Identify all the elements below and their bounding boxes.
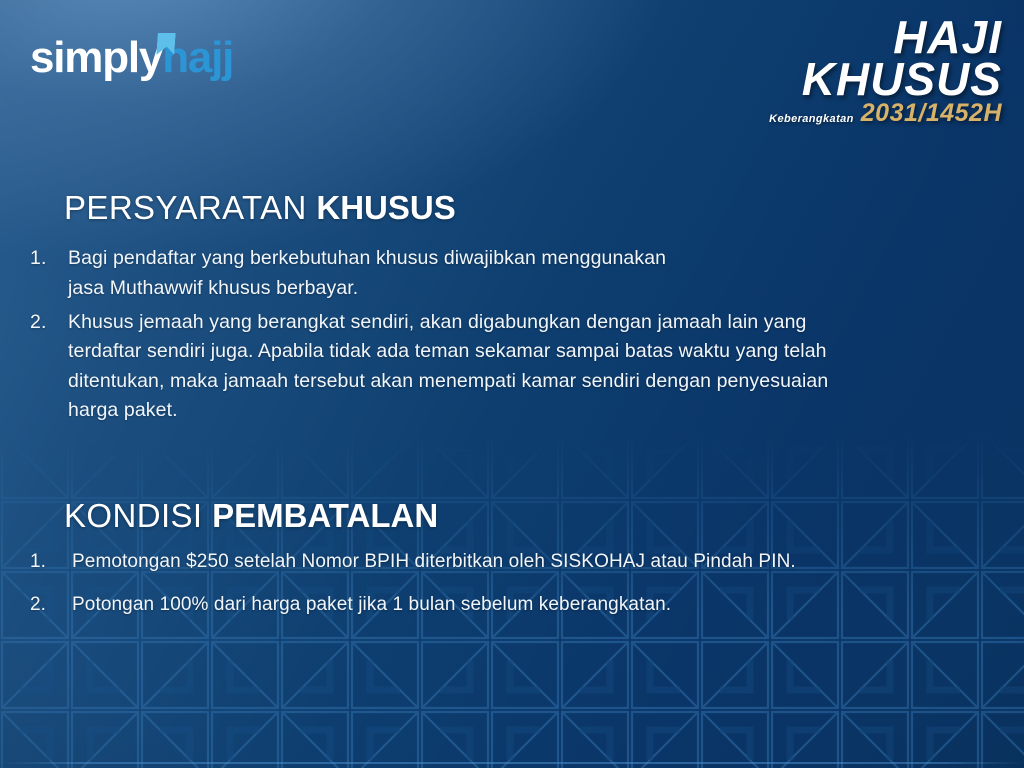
- cancellation-list: 1. Pemotongan $250 setelah Nomor BPIH di…: [26, 548, 984, 620]
- section-requirements-title-light: PERSYARATAN: [64, 189, 307, 226]
- list-item: 2. Khusus jemaah yang berangkat sendiri,…: [26, 308, 984, 427]
- section-cancellation-title-light: KONDISI: [64, 497, 203, 534]
- list-item-line: jasa Muthawwif khusus berbayar.: [68, 274, 984, 304]
- brand-logo[interactable]: simplyhajj: [30, 28, 233, 88]
- list-item-number: 2.: [26, 308, 68, 338]
- list-item-text: Khusus jemaah yang berangkat sendiri, ak…: [68, 308, 984, 427]
- list-item-text: Potongan 100% dari harga paket jika 1 bu…: [72, 591, 984, 620]
- list-item-line: Pemotongan $250 setelah Nomor BPIH diter…: [72, 548, 984, 577]
- section-cancellation-title-bold: PEMBATALAN: [212, 497, 438, 534]
- section-cancellation: KONDISI PEMBATALAN 1. Pemotongan $250 se…: [64, 498, 984, 634]
- slide-canvas: simplyhajj HAJI KHUSUS Keberangkatan 203…: [0, 0, 1024, 768]
- list-item-line: Potongan 100% dari harga paket jika 1 bu…: [72, 591, 984, 620]
- list-item-text: Bagi pendaftar yang berkebutuhan khusus …: [68, 244, 984, 303]
- badge-subtitle: Keberangkatan 2031/1452H: [762, 99, 1002, 128]
- list-item-line: harga paket.: [68, 396, 984, 426]
- list-item: 2. Potongan 100% dari harga paket jika 1…: [26, 591, 984, 620]
- badge-title-line1: HAJI: [762, 16, 1002, 58]
- list-item-number: 1.: [26, 244, 68, 274]
- list-item-text: Pemotongan $250 setelah Nomor BPIH diter…: [72, 548, 984, 577]
- header-badge: HAJI KHUSUS Keberangkatan 2031/1452H: [762, 16, 1002, 128]
- bottom-accent-line: [0, 762, 1024, 764]
- badge-title-line2: KHUSUS: [762, 58, 1002, 100]
- list-item-number: 2.: [26, 591, 72, 620]
- list-item-line: Khusus jemaah yang berangkat sendiri, ak…: [68, 308, 984, 338]
- section-requirements: PERSYARATAN KHUSUS 1. Bagi pendaftar yan…: [64, 190, 984, 430]
- list-item-line: terdaftar sendiri juga. Apabila tidak ad…: [68, 337, 984, 367]
- brand-logo-primary: simply: [30, 33, 162, 82]
- list-item: 1. Bagi pendaftar yang berkebutuhan khus…: [26, 244, 984, 303]
- list-item-number: 1.: [26, 548, 72, 577]
- section-requirements-title: PERSYARATAN KHUSUS: [64, 190, 984, 226]
- list-item: 1. Pemotongan $250 setelah Nomor BPIH di…: [26, 548, 984, 577]
- list-item-line: Bagi pendaftar yang berkebutuhan khusus …: [68, 244, 984, 274]
- section-cancellation-title: KONDISI PEMBATALAN: [64, 498, 984, 534]
- section-requirements-title-bold: KHUSUS: [316, 189, 455, 226]
- badge-departure-year: 2031/1452H: [861, 99, 1002, 128]
- list-item-line: ditentukan, maka jamaah tersebut akan me…: [68, 367, 984, 397]
- brand-logo-text: simplyhajj: [30, 36, 233, 80]
- requirements-list: 1. Bagi pendaftar yang berkebutuhan khus…: [26, 244, 984, 426]
- badge-departure-label: Keberangkatan: [769, 113, 854, 128]
